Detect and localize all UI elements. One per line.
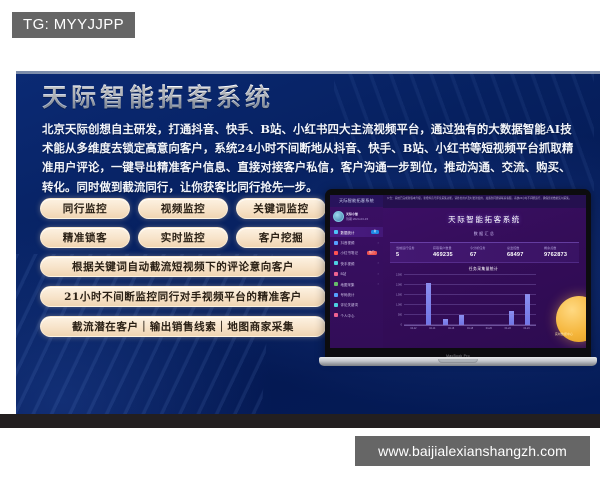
sidebar-item-profile[interactable]: 个人中心 — [330, 310, 383, 320]
feature-pill-lead-output: 截流潜在客户｜输出销售线索｜地图商家采集 — [40, 316, 326, 337]
stat-value: 5 — [396, 252, 429, 258]
stat-card: 总监控数 68497 — [503, 246, 540, 258]
feature-pill-row: 同行监控 视频监控 关键词监控 — [40, 198, 330, 219]
dashboard-nav: 数据统计 新 抖音视频 › 小红书笔记 热门 — [330, 226, 383, 321]
chart-bar-slot — [503, 275, 520, 325]
stat-label: 获取客户数量 — [433, 246, 466, 250]
stat-card: 获取客户数量 469235 — [429, 246, 466, 258]
chart-x-tick: 04-16 — [442, 327, 461, 330]
stat-label: 总监控数 — [507, 246, 540, 250]
chart-bar — [525, 294, 530, 325]
chart-gridline: 500 — [404, 314, 536, 315]
hash-icon — [334, 293, 338, 297]
chart-gridline: 0 — [404, 324, 536, 325]
chart-y-tick: 2,500 — [396, 274, 404, 277]
dashboard-main: 公告：系统已完成新版本升级，新增抖音号评论采集功能。请各位用户及时更新使用，如遇… — [383, 195, 586, 348]
chart-bars — [404, 275, 536, 325]
laptop-base-notch — [438, 359, 478, 363]
dashboard-user-text: 天际小智 到期:2024-03-15 — [346, 212, 368, 221]
feature-pill-keyword-intercept: 根据关键词自动截流短视频下的评论意向客户 — [40, 256, 326, 277]
feature-pill-video-monitor: 视频监控 — [138, 198, 228, 219]
bottom-dark-strip — [0, 414, 600, 428]
chart-gridline: 2,500 — [404, 274, 536, 275]
chart-bar-slot — [520, 275, 537, 325]
telegram-watermark: TG: MYYJJPP — [12, 12, 135, 38]
poster-description: 北京天际创想自主研发，打通抖音、快手、B站、小红书四大主流视频平台，通过独有的大… — [42, 120, 582, 197]
sidebar-item-label: 号码统计 — [341, 292, 355, 297]
sidebar-item-label: 地图采集 — [341, 282, 355, 287]
feature-pill-keyword-monitor: 关键词监控 — [236, 198, 326, 219]
tv-icon — [334, 272, 338, 276]
dashboard-user-expiry: 到期:2024-03-15 — [346, 217, 368, 221]
website-watermark: www.baijialexianshangzh.com — [355, 436, 590, 466]
sidebar-item-label: 评论关键词 — [341, 302, 358, 307]
stat-label: 当前运行任务 — [396, 246, 429, 250]
user-icon — [334, 313, 338, 317]
stat-value: 469235 — [433, 252, 466, 258]
stat-value: 67 — [470, 252, 503, 258]
chart-gridline: 1,000 — [404, 304, 536, 305]
chart-title: 任务采集量统计 — [391, 267, 576, 272]
chart-bar-slot — [404, 275, 421, 325]
dashboard-brand: 天际智能拓客系统 — [330, 195, 383, 207]
feature-pill-customer-mining: 客户挖掘 — [236, 227, 326, 248]
feature-pill-row: 21小时不间断监控同行对手视频平台的精准客户 — [40, 286, 330, 307]
dashboard-subtitle: 数据汇总 — [383, 231, 586, 237]
feature-pill-group: 同行监控 视频监控 关键词监控 精准锁客 实时监控 客户挖掘 根据关键词自动截流… — [40, 198, 330, 346]
chart-gridline: 1,500 — [404, 294, 536, 295]
chart-x-tick: 04-18 — [461, 327, 480, 330]
chart-y-tick: 1,500 — [396, 294, 404, 297]
poster-top-divider — [16, 71, 600, 74]
chart-gridline: 2,000 — [404, 284, 536, 285]
promo-poster: 天际智能拓客系统 北京天际创想自主研发，打通抖音、快手、B站、小红书四大主流视频… — [16, 71, 600, 414]
chart-icon — [334, 230, 338, 234]
feature-pill-realtime-monitor: 实时监控 — [138, 227, 228, 248]
chevron-right-icon: › — [378, 241, 379, 245]
feature-pill-peer-monitor: 同行监控 — [40, 198, 130, 219]
stat-label: 剩余点数 — [544, 246, 577, 250]
chart-y-tick: 500 — [398, 314, 404, 317]
feature-pill-row: 截流潜在客户｜输出销售线索｜地图商家采集 — [40, 316, 330, 337]
sidebar-item-label: 数据统计 — [341, 230, 355, 235]
sidebar-item-kuaishou[interactable]: 快手视频 › — [330, 258, 383, 268]
sidebar-item-douyin[interactable]: 抖音视频 › — [330, 237, 383, 247]
chart-bar-slot — [470, 275, 487, 325]
chart-x-tick: 04-24 — [517, 327, 536, 330]
chart-x-tick: 04-20 — [479, 327, 498, 330]
poster-title: 天际智能拓客系统 — [42, 84, 274, 112]
status-badge: 热门 — [367, 251, 377, 256]
video-icon — [334, 241, 338, 245]
dashboard-user-block: 天际小智 到期:2024-03-15 — [330, 207, 383, 226]
comment-icon — [334, 303, 338, 307]
sidebar-item-statistics[interactable]: 数据统计 新 — [330, 227, 383, 237]
chart-bar-slot — [487, 275, 504, 325]
sidebar-item-label: 小红书笔记 — [341, 250, 358, 255]
dashboard-title: 天际智能拓客系统 — [383, 214, 586, 225]
sidebar-item-bilibili[interactable]: B站 › — [330, 269, 383, 279]
stat-value: 9762873 — [544, 252, 577, 258]
play-icon — [334, 261, 338, 265]
sidebar-item-label: 个人中心 — [341, 313, 355, 318]
stat-card: 剩余点数 9762873 — [540, 246, 577, 258]
chart-y-tick: 1,000 — [396, 304, 404, 307]
avatar — [333, 211, 344, 222]
orb-caption: 实时数据中心 — [555, 332, 573, 336]
sidebar-item-number-stats[interactable]: 号码统计 — [330, 289, 383, 299]
laptop-lid: 天际智能拓客系统 天际小智 到期:2024-03-15 数据统计 — [325, 189, 591, 359]
chart-x-tick: 04-14 — [423, 327, 442, 330]
stat-value: 68497 — [507, 252, 540, 258]
chart-x-axis: 04-1204-1404-1604-1804-2004-2204-24 — [404, 327, 536, 330]
screenshot-root: TG: MYYJJPP 天际智能拓客系统 北京天际创想自主研发，打通抖音、快手、… — [0, 0, 600, 480]
status-badge: 新 — [371, 230, 379, 235]
stat-card: 当前运行任务 5 — [392, 246, 429, 258]
pin-icon — [334, 282, 338, 286]
bar-chart: 任务采集量统计 04-1204-1404-1604-1804-2004-2204… — [391, 267, 576, 333]
sidebar-item-label: 抖音视频 — [341, 240, 355, 245]
chart-y-tick: 0 — [401, 324, 404, 327]
laptop-base — [319, 357, 597, 366]
chevron-right-icon: › — [378, 272, 379, 276]
chart-bar-slot — [421, 275, 438, 325]
sidebar-item-label: 快手视频 — [341, 261, 355, 266]
chart-bar-slot — [437, 275, 454, 325]
dashboard-stats: 当前运行任务 5 获取客户数量 469235 今分析任务 67 — [390, 242, 579, 263]
book-icon — [334, 251, 338, 255]
sidebar-item-map-collect[interactable]: 地图采集 › — [330, 279, 383, 289]
chart-x-tick: 04-12 — [404, 327, 423, 330]
chevron-right-icon: › — [378, 261, 379, 265]
chart-bar-slot — [454, 275, 471, 325]
sidebar-item-xiaohongshu[interactable]: 小红书笔记 热门 — [330, 248, 383, 258]
sidebar-item-comment-keywords[interactable]: 评论关键词 — [330, 300, 383, 310]
dashboard-notice: 公告：系统已完成新版本升级，新增抖音号评论采集功能。请各位用户及时更新使用，如遇… — [383, 195, 586, 208]
feature-pill-row: 根据关键词自动截流短视频下的评论意向客户 — [40, 256, 330, 277]
laptop-screen: 天际智能拓客系统 天际小智 到期:2024-03-15 数据统计 — [330, 195, 586, 348]
chart-y-tick: 2,000 — [396, 284, 404, 287]
chevron-right-icon: › — [378, 282, 379, 286]
sidebar-item-label: B站 — [341, 271, 347, 276]
dashboard-sidebar: 天际智能拓客系统 天际小智 到期:2024-03-15 数据统计 — [330, 195, 383, 348]
feature-pill-precise-lock: 精准锁客 — [40, 227, 130, 248]
feature-pill-24h-monitor: 21小时不间断监控同行对手视频平台的精准客户 — [40, 286, 326, 307]
chart-x-tick: 04-22 — [498, 327, 517, 330]
feature-pill-row: 精准锁客 实时监控 客户挖掘 — [40, 227, 330, 248]
laptop-mockup: 天际智能拓客系统 天际小智 到期:2024-03-15 数据统计 — [319, 189, 597, 379]
chart-plot-area: 04-1204-1404-1604-1804-2004-2204-24 0500… — [404, 275, 536, 326]
stat-label: 今分析任务 — [470, 246, 503, 250]
stat-card: 今分析任务 67 — [466, 246, 503, 258]
